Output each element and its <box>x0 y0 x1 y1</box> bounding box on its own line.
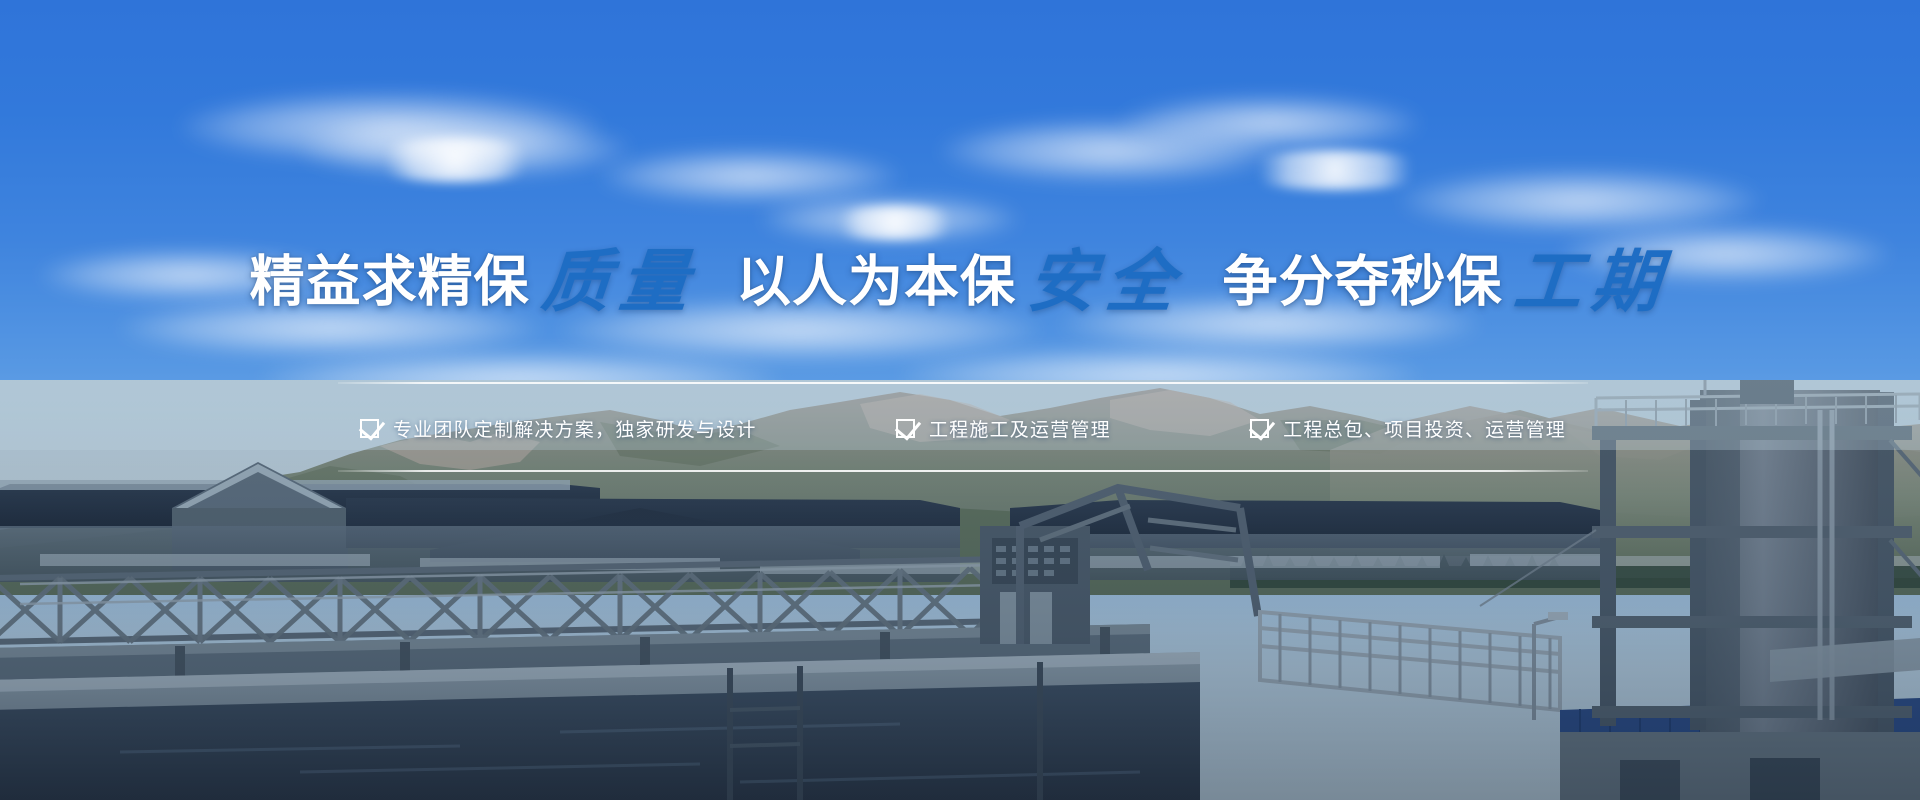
headline-segment-1: 精益求精保质量 <box>250 248 698 316</box>
headline-plain-2: 以人为本保 <box>736 251 1016 313</box>
feature-label: 工程施工及运营管理 <box>929 415 1111 442</box>
headline-plain-3: 争分夺秒保 <box>1222 251 1502 313</box>
feature-item: 专业团队定制解决方案，独家研发与设计 <box>360 415 757 442</box>
feature-label: 专业团队定制解决方案，独家研发与设计 <box>393 415 757 442</box>
hero-banner: 精益求精保质量 以人为本保安全 争分夺秒保工期 专业团队定制解决方案，独家研发与… <box>0 0 1920 800</box>
headline-brush-3: 工期 <box>1512 248 1674 316</box>
checkbox-checked-icon <box>1250 419 1269 438</box>
checkbox-checked-icon <box>896 419 915 438</box>
feature-label: 工程总包、项目投资、运营管理 <box>1283 415 1566 442</box>
checkbox-checked-icon <box>360 419 379 438</box>
feature-item: 工程总包、项目投资、运营管理 <box>1250 415 1566 442</box>
feature-list: 专业团队定制解决方案，独家研发与设计 工程施工及运营管理 工程总包、项目投资、运… <box>338 398 1588 458</box>
headline-brush-2: 安全 <box>1025 248 1187 316</box>
divider-top <box>338 382 1588 384</box>
headline-segment-2: 以人为本保安全 <box>736 248 1184 316</box>
feature-item: 工程施工及运营管理 <box>896 415 1111 442</box>
page-title: 精益求精保质量 以人为本保安全 争分夺秒保工期 <box>0 248 1920 316</box>
headline-segment-3: 争分夺秒保工期 <box>1222 248 1670 316</box>
divider-bottom <box>338 470 1588 472</box>
headline-plain-1: 精益求精保 <box>250 251 530 313</box>
headline-brush-1: 质量 <box>539 248 701 316</box>
